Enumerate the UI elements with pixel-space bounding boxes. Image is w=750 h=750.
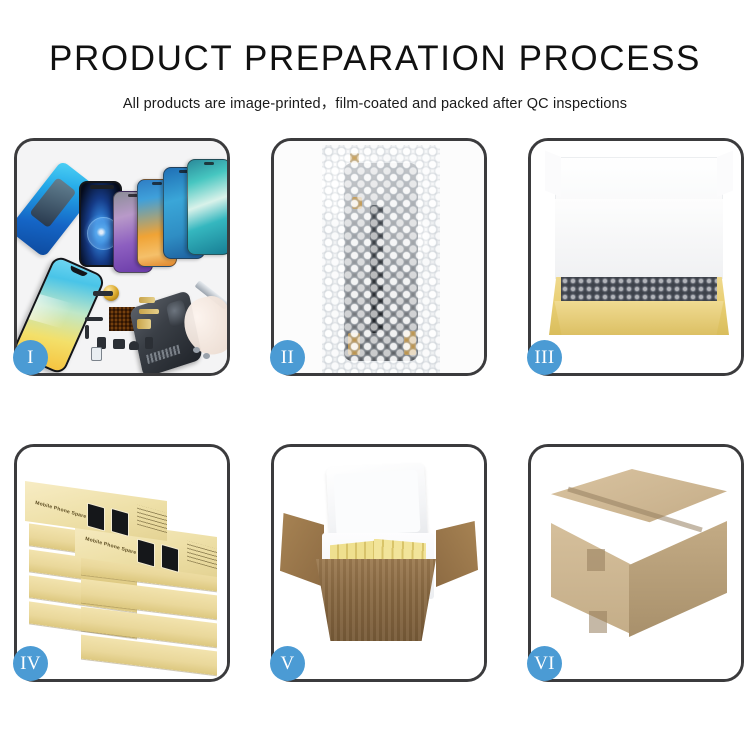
process-step-1[interactable]: I: [14, 138, 230, 376]
bubble-wrap-bag: [322, 145, 440, 373]
bubble-texture: [322, 145, 440, 373]
box-printed-screen: [87, 502, 105, 531]
box-printed-text-block: [137, 505, 167, 533]
box-printed-screen: [161, 544, 179, 573]
page-subtitle: All products are image-printed，film-coat…: [0, 92, 750, 113]
small-part: [85, 317, 103, 321]
small-part: [93, 291, 113, 296]
small-part: [85, 325, 89, 339]
carton-right-face: [629, 521, 727, 637]
phone-notch-icon: [204, 162, 214, 165]
kraft-box-front: [549, 301, 729, 335]
page-title: PRODUCT PREPARATION PROCESS: [0, 40, 750, 79]
process-step-grid: I II III: [0, 138, 750, 684]
carton-tape-tab: [589, 611, 607, 633]
flex-cable-part: [137, 319, 151, 329]
sim-tray-part: [91, 347, 102, 361]
step-1-image: [17, 141, 227, 373]
screw-part: [193, 347, 200, 353]
process-step-6[interactable]: VI: [528, 444, 744, 682]
carton-tape-tab: [587, 549, 605, 571]
page-header: PRODUCT PREPARATION PROCESS All products…: [0, 0, 750, 113]
process-step-4[interactable]: Mobile Phone Spare Parts Mobile Phone Sp…: [14, 444, 230, 682]
flex-cable-part: [139, 297, 155, 303]
grey-bubble-wrap: [561, 277, 717, 303]
foam-sheet: [555, 199, 723, 277]
step-5-image: [274, 447, 484, 679]
carton-flap-left: [280, 513, 324, 587]
step-1-badge: I: [13, 340, 48, 375]
step-2-image: [274, 141, 484, 373]
small-part: [129, 341, 139, 350]
step-2-badge: II: [270, 340, 305, 375]
box-printed-screen: [137, 538, 155, 567]
box-printed-text-block: [187, 541, 217, 569]
process-step-3[interactable]: III: [528, 138, 744, 376]
process-step-2[interactable]: II: [271, 138, 487, 376]
small-part: [113, 339, 125, 349]
phone-display-fan: [113, 161, 227, 273]
box-printed-screen: [111, 508, 129, 537]
step-6-image: [531, 447, 741, 679]
step-3-image: [531, 141, 741, 373]
retail-box-stack: Mobile Phone Spare Parts Mobile Phone Sp…: [23, 461, 227, 675]
small-part: [145, 337, 153, 349]
step-4-badge: IV: [13, 646, 48, 681]
carton-flap-right: [436, 521, 478, 587]
step-4-image: Mobile Phone Spare Parts Mobile Phone Sp…: [17, 447, 227, 679]
phone-display-4: [187, 159, 227, 255]
step-3-badge: III: [527, 340, 562, 375]
step-6-badge: VI: [527, 646, 562, 681]
carton-body: [316, 559, 436, 641]
phone-notch-icon: [152, 182, 161, 185]
process-step-5[interactable]: V: [271, 444, 487, 682]
step-5-badge: V: [270, 646, 305, 681]
flex-cable-part: [139, 309, 159, 314]
screw-part: [203, 353, 210, 359]
